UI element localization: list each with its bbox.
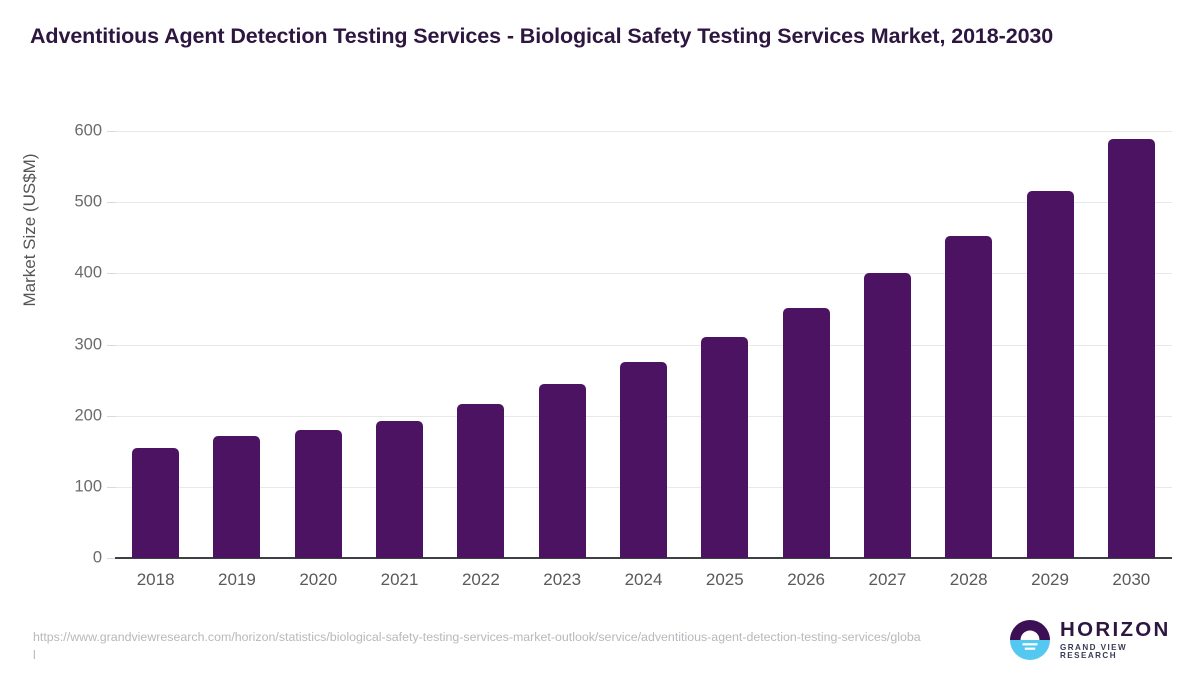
bar-2026[interactable] (783, 308, 830, 558)
y-tick-label: 500 (32, 193, 102, 212)
logo-wordmark: HORIZON (1060, 620, 1178, 641)
chart-page: Adventitious Agent Detection Testing Ser… (0, 0, 1200, 675)
x-tick-label: 2026 (787, 570, 825, 590)
horizon-logo-icon (1008, 618, 1052, 662)
bar-2019[interactable] (213, 436, 260, 558)
bar-2022[interactable] (457, 404, 504, 558)
x-tick-label: 2021 (381, 570, 419, 590)
horizon-logo[interactable]: HORIZON GRAND VIEW RESEARCH (1008, 617, 1178, 663)
y-tick-label: 300 (32, 335, 102, 354)
y-tick-label: 400 (32, 264, 102, 283)
y-axis-title: Market Size (US$M) (20, 30, 40, 430)
logo-subtitle: GRAND VIEW RESEARCH (1060, 644, 1178, 660)
x-tick-label: 2023 (543, 570, 581, 590)
bar-2021[interactable] (376, 421, 423, 558)
y-tick-label: 0 (32, 549, 102, 568)
horizon-logo-text: HORIZON GRAND VIEW RESEARCH (1060, 620, 1178, 660)
x-tick-label: 2030 (1112, 570, 1150, 590)
x-tick-label: 2029 (1031, 570, 1069, 590)
bar-2023[interactable] (539, 384, 586, 558)
x-tick-label: 2024 (625, 570, 663, 590)
bar-2029[interactable] (1027, 191, 1074, 558)
bar-2028[interactable] (945, 236, 992, 558)
y-tick-label: 600 (32, 122, 102, 141)
x-tick-label: 2027 (869, 570, 907, 590)
chart-plot-wrapper: Market Size (US$M) 0100200300400500600 2… (0, 0, 1200, 675)
x-tick-label: 2019 (218, 570, 256, 590)
source-url[interactable]: https://www.grandviewresearch.com/horizo… (33, 629, 923, 664)
bar-2027[interactable] (864, 273, 911, 558)
bar-2024[interactable] (620, 362, 667, 558)
bar-2020[interactable] (295, 430, 342, 558)
bar-2018[interactable] (132, 448, 179, 558)
x-axis-labels: 2018201920202021202220232024202520262027… (115, 570, 1172, 596)
x-tick-label: 2025 (706, 570, 744, 590)
x-tick-label: 2018 (137, 570, 175, 590)
x-tick-label: 2020 (299, 570, 337, 590)
bar-2030[interactable] (1108, 139, 1155, 558)
y-tick-label: 100 (32, 477, 102, 496)
x-tick-label: 2028 (950, 570, 988, 590)
bars-group (115, 131, 1172, 558)
y-tick-label: 200 (32, 406, 102, 425)
bar-2025[interactable] (701, 337, 748, 558)
x-tick-label: 2022 (462, 570, 500, 590)
